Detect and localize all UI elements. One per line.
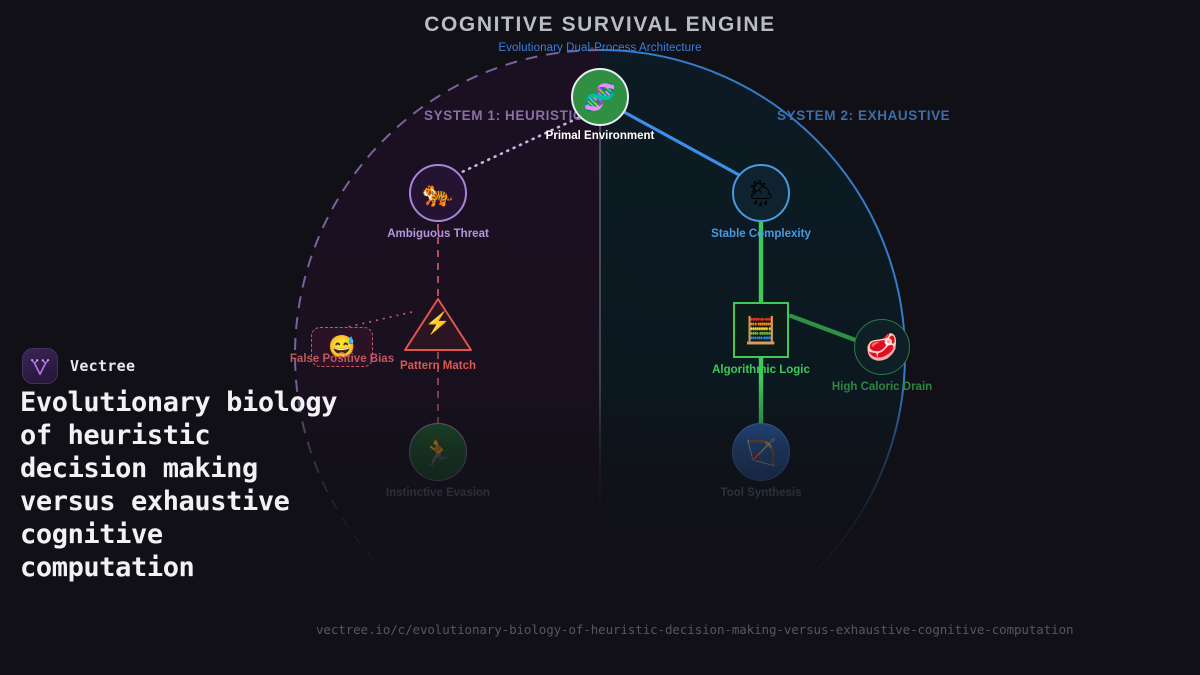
node-ambiguous-threat[interactable]: 🐅 Ambiguous Threat (409, 164, 467, 222)
node-instinctive-evasion[interactable]: 🏃 Instinctive Evasion (409, 423, 467, 481)
bow-and-arrow-icon: 🏹 (745, 439, 777, 465)
node-label-pattern-match: Pattern Match (400, 360, 476, 372)
node-stable-complexity[interactable]: 🌦 Stable Complexity (732, 164, 790, 222)
headline: Evolutionary biology of heuristic decisi… (20, 386, 350, 584)
brand-name: Vectree (70, 357, 135, 375)
node-label-primal-environment: Primal Environment (546, 130, 655, 142)
vectree-logo-glyph (29, 355, 51, 377)
node-algorithmic-logic[interactable]: 🧮 Algorithmic Logic (733, 302, 789, 358)
steak-icon: 🥩 (866, 334, 898, 360)
page-subtitle: Evolutionary Dual-Process Architecture (0, 42, 1200, 54)
region-label-system-2: SYSTEM 2: EXHAUSTIVE (777, 108, 950, 123)
node-label-instinctive-evasion: Instinctive Evasion (386, 487, 490, 499)
node-tool-synthesis[interactable]: 🏹 Tool Synthesis (732, 423, 790, 481)
edge-primal-environment-to-ambiguous-threat (462, 118, 578, 172)
url-text: vectree.io/c/evolutionary-biology-of-heu… (316, 622, 1073, 637)
node-label-false-positive-bias: False Positive Bias (290, 353, 394, 365)
node-false-positive-bias[interactable]: 😅 False Positive Bias (311, 327, 373, 367)
node-label-ambiguous-threat: Ambiguous Threat (387, 228, 489, 240)
edge-primal-environment-to-stable-complexity (624, 112, 741, 176)
edge-algorithmic-logic-to-high-caloric-drain (791, 316, 858, 341)
dna-icon: 🧬 (584, 84, 616, 110)
brand: Vectree (22, 348, 135, 384)
running-person-icon: 🏃 (422, 439, 454, 465)
abacus-icon: 🧮 (745, 317, 777, 343)
node-high-caloric-drain[interactable]: 🥩 High Caloric Drain (854, 319, 910, 375)
sun-rain-cloud-icon: 🌦 (744, 180, 777, 206)
vectree-tree-logo (22, 348, 58, 384)
lightning-icon: ⚡ (425, 312, 451, 336)
page-title: COGNITIVE SURVIVAL ENGINE (0, 13, 1200, 37)
diagram-stage: SYSTEM 1: HEURISTIC SYSTEM 2: EXHAUSTIVE… (0, 0, 1200, 675)
node-primal-environment[interactable]: 🧬 Primal Environment (571, 68, 629, 126)
node-label-high-caloric-drain: High Caloric Drain (832, 381, 932, 393)
node-label-stable-complexity: Stable Complexity (711, 228, 811, 240)
node-label-algorithmic-logic: Algorithmic Logic (712, 364, 810, 376)
node-label-tool-synthesis: Tool Synthesis (721, 487, 802, 499)
region-label-system-1: SYSTEM 1: HEURISTIC (424, 108, 583, 123)
tiger-icon: 🐅 (422, 180, 454, 206)
